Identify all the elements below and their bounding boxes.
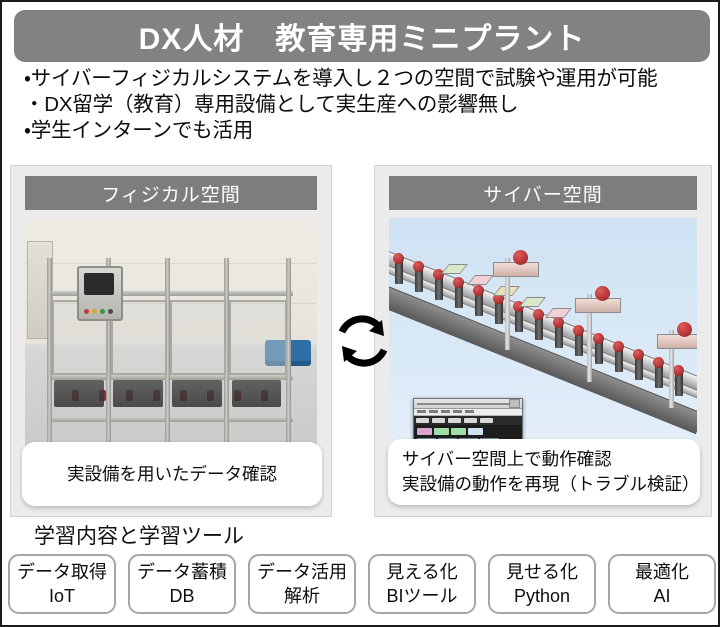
station-actuator	[535, 316, 543, 340]
slide-root: DX人材 教育専用ミニプラント ・サイバーフィジカルシステムを導入し２つの空間で…	[0, 0, 720, 627]
station-actuator	[515, 308, 523, 332]
pallet	[545, 308, 572, 318]
tag-title: データ活用	[257, 560, 347, 584]
station-actuator	[475, 292, 483, 316]
aluminium-frame-rig	[47, 258, 293, 468]
sim-menu-item[interactable]	[429, 410, 438, 413]
equipment-module	[232, 380, 281, 407]
gantry-arm	[575, 298, 621, 313]
bullet-item: ・DX留学（教育）専用設備として実生産への影響無し	[24, 92, 704, 118]
process-cell	[170, 300, 226, 375]
sim-menu-item[interactable]	[441, 410, 450, 413]
panel-cyber-header-label: サイバー空間	[483, 180, 603, 207]
station-knob	[393, 253, 404, 264]
learning-tag-data-utilization[interactable]: データ活用 解析	[248, 554, 356, 614]
station-knob	[593, 333, 604, 344]
station-knob	[673, 365, 684, 376]
sim-chip	[451, 428, 466, 435]
sim-toolbar-button[interactable]	[464, 418, 477, 423]
station-actuator	[675, 372, 683, 396]
sim-menu-item[interactable]	[453, 410, 462, 413]
pallet	[467, 275, 494, 285]
station-actuator	[655, 364, 663, 388]
hmi-screen	[84, 273, 114, 295]
station-actuator	[635, 356, 643, 380]
caption-line: サイバー空間上で動作確認	[402, 447, 612, 472]
pallet	[519, 297, 546, 307]
sim-menu-item[interactable]	[465, 410, 474, 413]
process-cell	[229, 300, 287, 375]
bullet-item: ・サイバーフィジカルシステムを導入し２つの空間で試験や運用が可能	[24, 66, 704, 92]
equipment-module	[113, 380, 162, 407]
gantry-arm	[657, 334, 697, 349]
gantry-arm	[493, 262, 539, 277]
station-actuator	[455, 284, 463, 308]
station-knob	[553, 317, 564, 328]
hmi-button	[92, 309, 97, 314]
learning-tag-visualization[interactable]: 見える化 BIツール	[368, 554, 476, 614]
sim-menu-item[interactable]	[417, 410, 426, 413]
equipment-module	[54, 380, 103, 407]
station-actuator	[575, 332, 583, 356]
bullet-list: ・サイバーフィジカルシステムを導入し２つの空間で試験や運用が可能 ・DX留学（教…	[24, 66, 704, 144]
slide-title-bar: DX人材 教育専用ミニプラント	[14, 10, 710, 62]
station-knob	[633, 349, 644, 360]
learning-section-label: 学習内容と学習ツール	[34, 520, 244, 550]
gantry-knob	[677, 322, 692, 337]
gantry-knob	[513, 250, 528, 265]
sim-status-chips	[417, 428, 519, 435]
close-icon[interactable]	[509, 399, 520, 408]
station-knob	[573, 325, 584, 336]
station-actuator	[435, 276, 443, 300]
tag-tool: BIツール	[386, 584, 457, 608]
circular-sync-arrows-icon	[332, 306, 394, 376]
tag-tool: AI	[653, 584, 670, 608]
tag-tool: DB	[169, 584, 194, 608]
sim-chip	[417, 428, 432, 435]
hmi-control-panel	[77, 266, 123, 320]
tag-title: 見える化	[386, 560, 457, 584]
hmi-button	[84, 309, 89, 314]
sim-toolbar-button[interactable]	[432, 418, 445, 423]
station-actuator	[495, 300, 503, 324]
sim-window-titlebar	[414, 399, 522, 409]
tag-title: 最適化	[635, 560, 689, 584]
learning-tag-presentation[interactable]: 見せる化 Python	[488, 554, 596, 614]
station-knob	[533, 309, 544, 320]
station-actuator	[415, 268, 423, 292]
tag-tool: 解析	[284, 584, 320, 608]
station-knob	[453, 277, 464, 288]
tag-tool: IoT	[49, 584, 75, 608]
hmi-button	[100, 309, 105, 314]
learning-tag-data-storage[interactable]: データ蓄積 DB	[128, 554, 236, 614]
station-knob	[473, 285, 484, 296]
sim-chip	[468, 428, 483, 435]
gantry-knob	[595, 286, 610, 301]
equipment-module	[172, 380, 221, 407]
station-actuator	[395, 260, 403, 284]
caption-physical: 実設備を用いたデータ確認	[22, 442, 322, 506]
station-actuator	[595, 340, 603, 364]
sim-chip	[434, 428, 449, 435]
learning-tag-data-acquisition[interactable]: データ取得 IoT	[8, 554, 116, 614]
hmi-button-row	[84, 309, 113, 314]
page-title: DX人材 教育専用ミニプラント	[139, 14, 586, 58]
sim-toolbar-button[interactable]	[416, 418, 429, 423]
learning-tag-row: データ取得 IoT データ蓄積 DB データ活用 解析 見える化 BIツール 見…	[8, 554, 716, 614]
tag-title: データ取得	[17, 560, 107, 584]
sim-toolbar-button[interactable]	[480, 418, 493, 423]
bullet-item: ・学生インターンでも活用	[24, 118, 704, 144]
station-actuator	[555, 324, 563, 348]
learning-tag-optimization[interactable]: 最適化 AI	[608, 554, 716, 614]
sim-toolbar[interactable]	[414, 416, 522, 425]
caption-cyber: サイバー空間上で動作確認 実設備の動作を再現（トラブル検証）	[388, 439, 700, 505]
sim-toolbar-button[interactable]	[448, 418, 461, 423]
tag-title: 見せる化	[506, 560, 578, 584]
tag-title: データ蓄積	[137, 560, 227, 584]
station-knob	[413, 261, 424, 272]
sim-menu-bar[interactable]	[414, 409, 522, 416]
panel-physical-header-label: フィジカル空間	[101, 180, 241, 207]
caption-line: 実設備の動作を再現（トラブル検証）	[402, 472, 700, 497]
station-knob	[653, 357, 664, 368]
pallet	[441, 264, 468, 274]
sim-window-title	[417, 403, 509, 405]
station-actuator	[615, 348, 623, 372]
tag-tool: Python	[514, 584, 570, 608]
panel-cyber-header: サイバー空間	[389, 176, 697, 210]
caption-line: 実設備を用いたデータ確認	[67, 462, 277, 487]
panel-physical-header: フィジカル空間	[25, 176, 317, 210]
hmi-button	[108, 309, 113, 314]
station-knob	[613, 341, 624, 352]
